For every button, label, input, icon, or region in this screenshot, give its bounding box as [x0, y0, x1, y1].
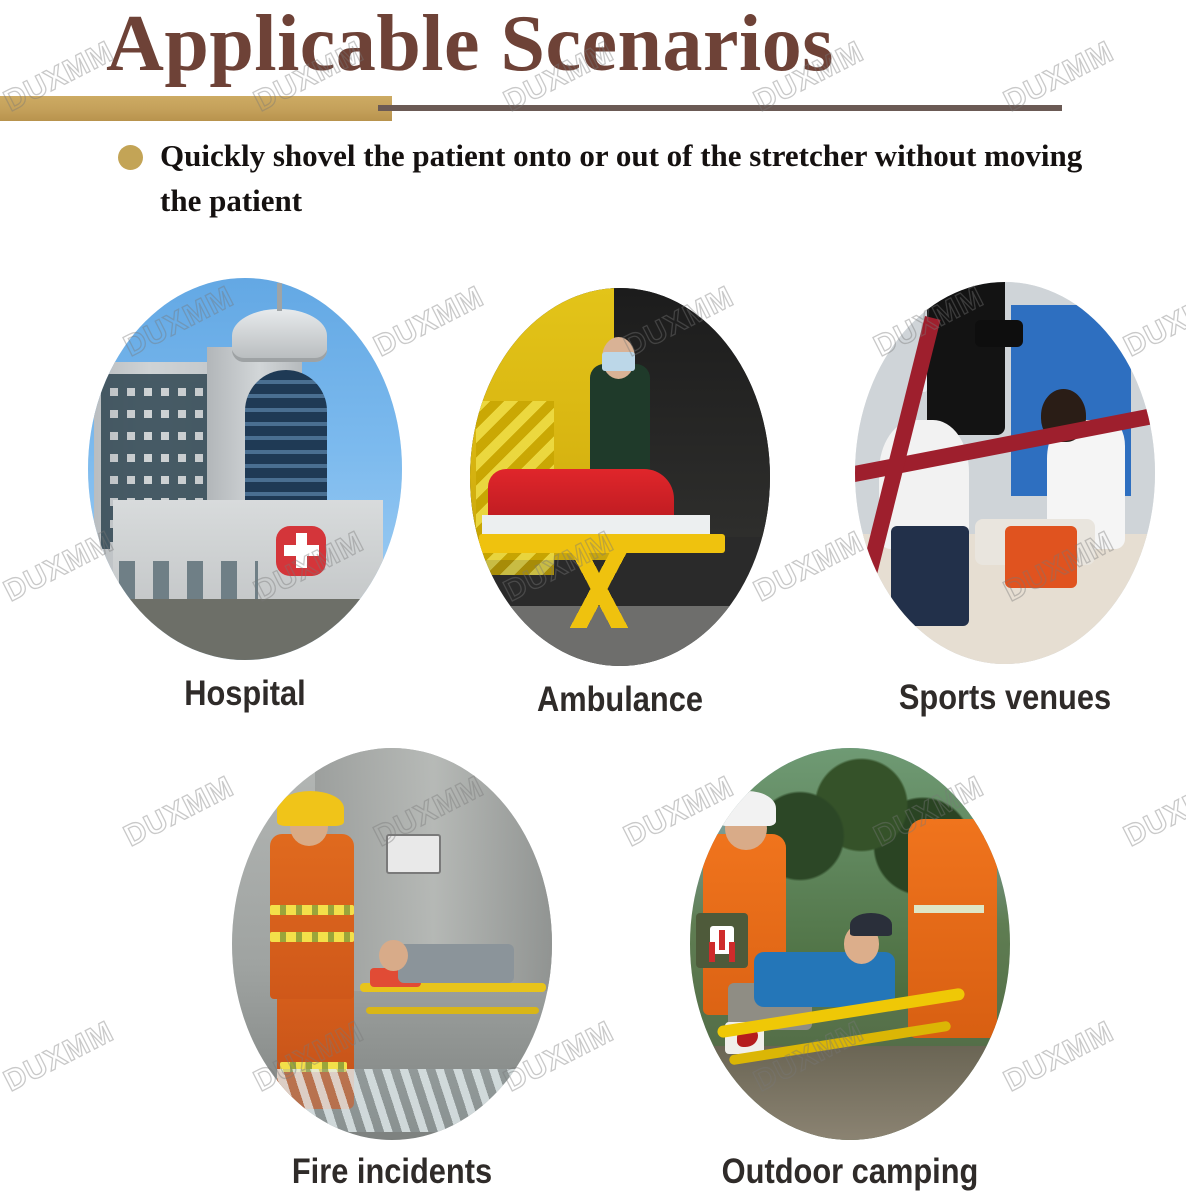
scenario-card-ambulance: Ambulance — [470, 288, 770, 718]
scenario-photo-fire-incidents — [232, 748, 552, 1140]
red-cross-icon — [276, 526, 326, 576]
scenario-photo-sports-venues — [855, 282, 1155, 664]
scenario-photo-ambulance — [470, 288, 770, 666]
hospital-scene — [88, 278, 402, 660]
scenario-grid: Hospital Ambulance — [0, 0, 1186, 1198]
scenario-card-fire-incidents: Fire incidents — [232, 748, 552, 1188]
outdoor-camping-scene — [690, 748, 1010, 1140]
ambulance-scene — [470, 288, 770, 666]
scenario-photo-outdoor-camping — [690, 748, 1010, 1140]
first-aid-kit-icon — [696, 913, 747, 968]
scenario-caption-fire-incidents: Fire incidents — [235, 1152, 548, 1192]
scenario-caption-hospital: Hospital — [98, 674, 392, 714]
scenario-caption-ambulance: Ambulance — [472, 680, 768, 720]
scenario-photo-hospital — [88, 278, 402, 660]
scenario-caption-outdoor-camping: Outdoor camping — [686, 1152, 1013, 1192]
scenario-card-hospital: Hospital — [88, 278, 402, 698]
scenario-card-outdoor-camping: Outdoor camping — [690, 748, 1010, 1188]
scenario-caption-sports-venues: Sports venues — [852, 678, 1158, 718]
scenario-card-sports-venues: Sports venues — [855, 282, 1155, 712]
sports-venue-scene — [855, 282, 1155, 664]
fire-incident-scene — [232, 748, 552, 1140]
